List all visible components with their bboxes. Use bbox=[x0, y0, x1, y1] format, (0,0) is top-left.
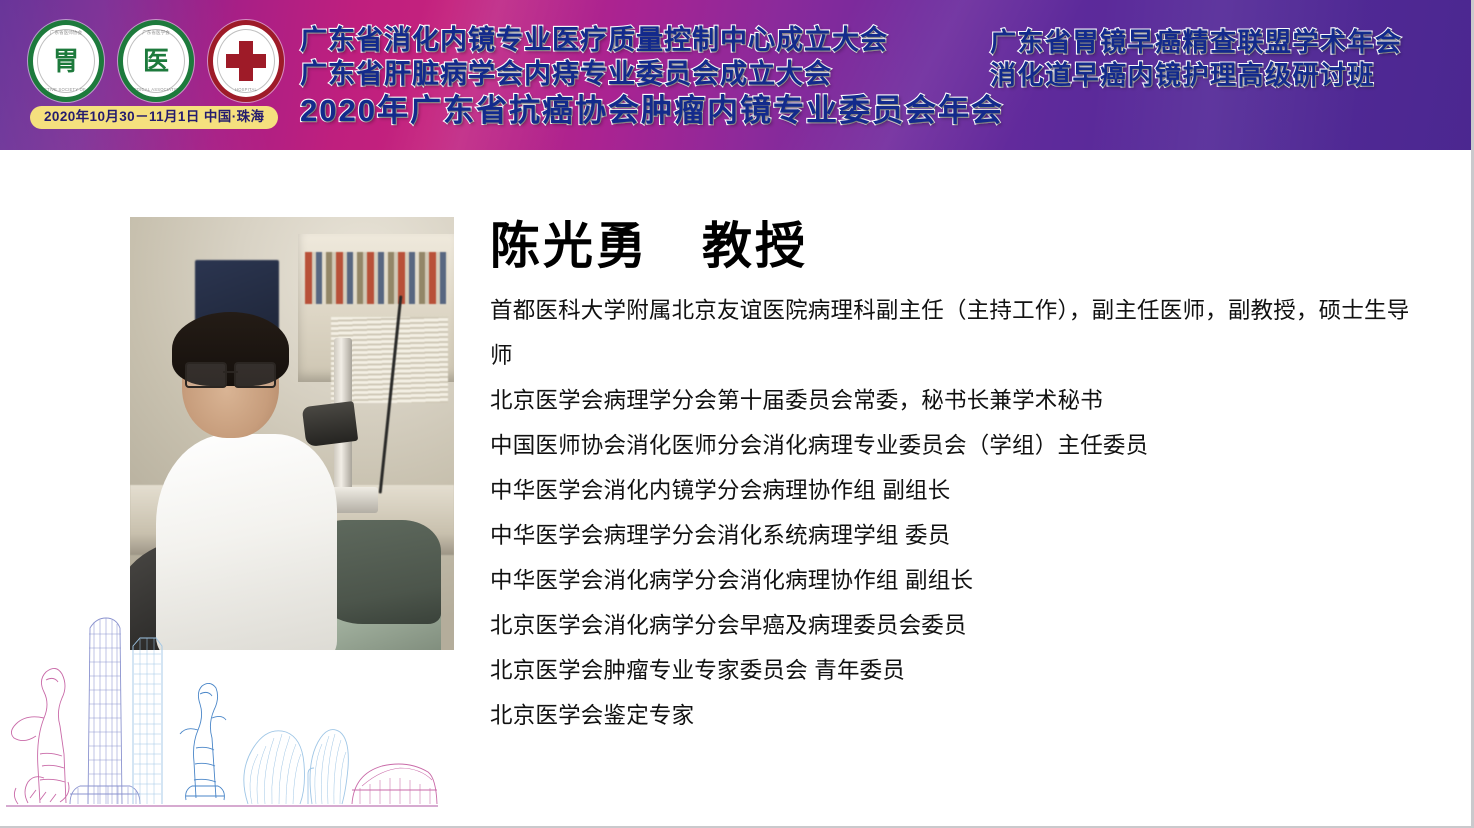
logo-ring-text-top: 广东省医学会 bbox=[123, 30, 189, 36]
glasses-lens-left bbox=[185, 362, 227, 388]
bio-line-4: 中华医学会消化内镜学分会病理协作组 副组长 bbox=[490, 468, 1430, 513]
red-cross-icon bbox=[226, 41, 266, 81]
logo-ring-text: HOSPITAL bbox=[213, 87, 279, 92]
presentation-slide: 广东省医师协会 胃 DIGESTIVE SOCIETY OF GUANGDONG… bbox=[0, 0, 1474, 828]
speaker-bio-block: 陈光勇 教授 首都医科大学附属北京友谊医院病理科副主任（主持工作），副主任医师，… bbox=[490, 218, 1430, 738]
speaker-name-title: 陈光勇 教授 bbox=[490, 218, 1430, 276]
bio-line-9: 北京医学会鉴定专家 bbox=[490, 693, 1430, 738]
banner-headlines-left: 广东省消化内镜专业医疗质量控制中心成立大会 广东省肝脏病学会内痔专业委员会成立大… bbox=[300, 24, 960, 130]
bio-line-2: 北京医学会病理学分会第十届委员会常委，秘书长兼学术秘书 bbox=[490, 378, 1430, 423]
bio-line-7: 北京医学会消化病学分会早癌及病理委员会委员 bbox=[490, 603, 1430, 648]
logo-ring-text-top: 广东省医师协会 bbox=[33, 30, 99, 36]
bio-line-6: 中华医学会消化病学分会消化病理协作组 副组长 bbox=[490, 558, 1430, 603]
photo-person-glasses bbox=[185, 362, 276, 384]
logo-ring-text: MEDICAL ASSOCIATION bbox=[123, 87, 189, 92]
bridge-icon bbox=[352, 764, 437, 804]
logo-glyph: 医 bbox=[123, 48, 189, 74]
speaker-photo bbox=[130, 217, 454, 650]
banner-headline-5: 消化道早癌内镜护理高级研讨班 bbox=[990, 59, 1460, 92]
banner-headline-4: 广东省胃镜早癌精查联盟学术年会 bbox=[990, 26, 1460, 59]
banner-headline-2: 广东省肝脏病学会内痔专业委员会成立大会 bbox=[300, 58, 960, 92]
conference-date-badge: 2020年10月30－11月1日 中国·珠海 bbox=[30, 106, 278, 129]
zhuhai-opera-house-icon bbox=[244, 730, 349, 804]
banner-headline-3: 2020年广东省抗癌协会肿瘤内镜专业委员会年会 bbox=[300, 92, 960, 131]
logo-glyph: 胃 bbox=[33, 48, 99, 74]
photo-books bbox=[305, 252, 448, 304]
banner-headline-1: 广东省消化内镜专业医疗质量控制中心成立大会 bbox=[300, 24, 960, 58]
fisher-girl-statue-icon bbox=[11, 668, 69, 804]
photo-person-labcoat bbox=[156, 434, 337, 651]
glasses-bridge bbox=[223, 371, 238, 373]
conference-banner: 广东省医师协会 胃 DIGESTIVE SOCIETY OF GUANGDONG… bbox=[0, 0, 1474, 150]
glasses-lens-right bbox=[234, 362, 276, 388]
bio-line-1: 首都医科大学附属北京友谊医院病理科副主任（主持工作），副主任医师，副教授，硕士生… bbox=[490, 288, 1430, 378]
banner-headlines-right: 广东省胃镜早癌精查联盟学术年会 消化道早癌内镜护理高级研讨班 bbox=[990, 26, 1460, 91]
bio-line-5: 中华医学会病理学分会消化系统病理学组 委员 bbox=[490, 513, 1430, 558]
bio-line-3: 中国医师协会消化医师分会消化病理专业委员会（学组）主任委员 bbox=[490, 423, 1430, 468]
microscope-head bbox=[301, 401, 358, 447]
statue-figure-icon bbox=[180, 683, 226, 800]
bio-line-8: 北京医学会肿瘤专业专家委员会 青年委员 bbox=[490, 648, 1430, 693]
organization-logos: 广东省医师协会 胃 DIGESTIVE SOCIETY OF GUANGDONG… bbox=[28, 20, 284, 102]
guangdong-medical-association-logo: 广东省医学会 医 MEDICAL ASSOCIATION bbox=[118, 20, 194, 102]
secondary-tower-icon bbox=[133, 638, 162, 804]
logo-ring-text: DIGESTIVE SOCIETY OF GUANGDONG bbox=[33, 87, 99, 92]
hospital-red-cross-logo: HOSPITAL bbox=[208, 20, 284, 102]
guangdong-digestive-endoscopy-society-logo: 广东省医师协会 胃 DIGESTIVE SOCIETY OF GUANGDONG bbox=[28, 20, 104, 102]
